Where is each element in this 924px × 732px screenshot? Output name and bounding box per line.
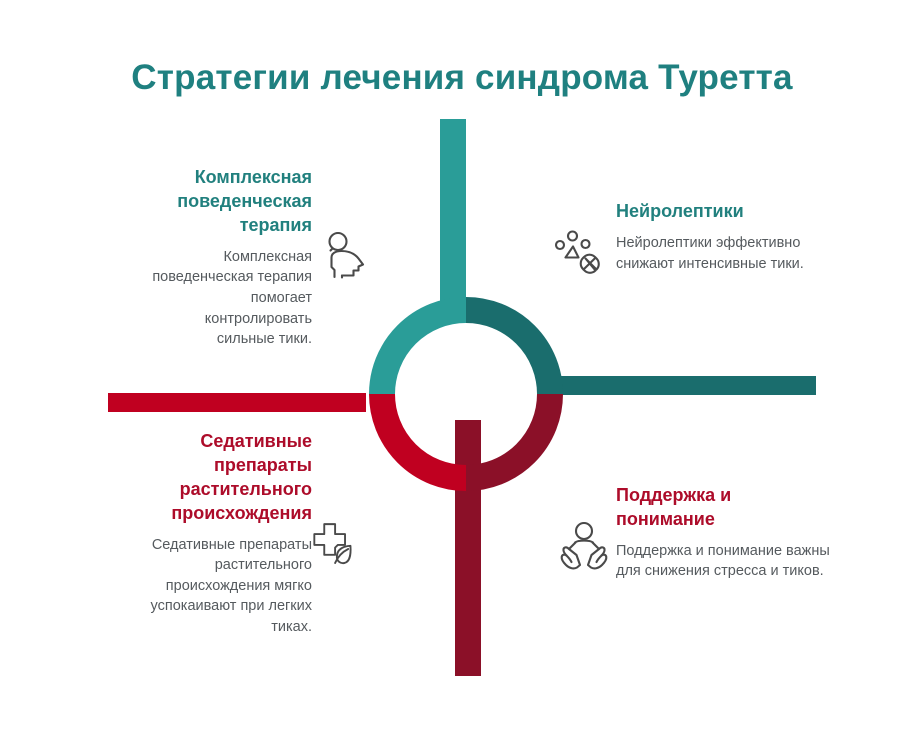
quadrant-top-left-body: Комплексная поведенческая терапия помога… <box>150 247 312 350</box>
quadrant-top-left: Комплексная поведенческая терапия Компле… <box>150 166 312 350</box>
head-profile-thought-icon <box>318 227 374 283</box>
infographic-canvas: Стратегии лечения синдрома Туретта Компл… <box>0 0 924 732</box>
ring-arc-bottom-left <box>382 394 466 478</box>
medical-cross-leaf-icon <box>308 516 364 572</box>
page-title: Стратегии лечения синдрома Туретта <box>0 58 924 98</box>
stem-bottom <box>455 420 481 676</box>
stem-right <box>560 376 816 395</box>
central-ring-diagram <box>0 0 924 732</box>
ring-arc-bottom-right <box>466 394 550 478</box>
ring-arc-top-left <box>382 310 466 394</box>
stem-left <box>108 393 366 412</box>
quadrant-bottom-left: Седативные препараты растительного проис… <box>150 430 312 638</box>
ring-arc-top-right <box>466 310 550 394</box>
person-raised-hands-icon <box>556 519 612 575</box>
quadrant-bottom-right: Поддержка и понимание Поддержка и понима… <box>616 484 832 582</box>
quadrant-bottom-left-heading: Седативные препараты растительного проис… <box>150 430 312 526</box>
quadrant-top-left-heading: Комплексная поведенческая терапия <box>150 166 312 238</box>
quadrant-top-right-body: Нейролептики эффективно снижают интенсив… <box>616 233 816 274</box>
quadrant-bottom-left-body: Седативные препараты растительного проис… <box>150 535 312 638</box>
pills-capsule-icon <box>552 226 608 282</box>
quadrant-bottom-right-body: Поддержка и понимание важны для снижения… <box>616 541 832 582</box>
quadrant-top-right: Нейролептики Нейролептики эффективно сни… <box>616 200 816 274</box>
stem-top <box>440 119 466 319</box>
quadrant-top-right-heading: Нейролептики <box>616 200 816 224</box>
quadrant-bottom-right-heading: Поддержка и понимание <box>616 484 832 532</box>
